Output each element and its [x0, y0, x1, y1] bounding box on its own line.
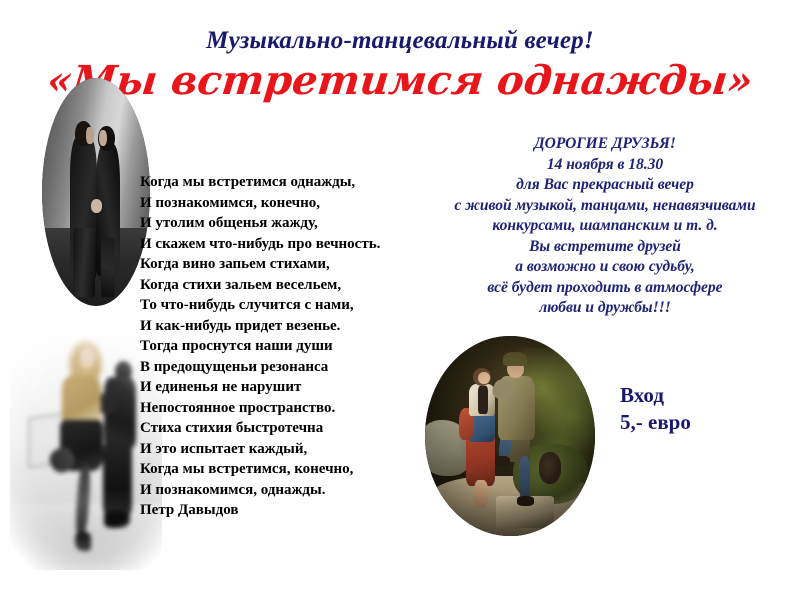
- poem-line: И это испытает каждый,: [140, 439, 450, 460]
- poem-line: В предощущеньи резонанса: [140, 357, 450, 378]
- poem-line: Когда вино запьем стихами,: [140, 254, 450, 275]
- poem-line: Когда мы встретимся однажды,: [140, 172, 450, 193]
- dancer-woman-shoe: [75, 532, 90, 551]
- poem-line: И познакомимся, конечно,: [140, 193, 450, 214]
- poem-line: И как-нибудь придет везенье.: [140, 316, 450, 337]
- poem-line: И скажем что-нибудь про вечность.: [140, 234, 450, 255]
- dancer-woman-face: [80, 347, 95, 368]
- couple-photo: [42, 78, 150, 306]
- entry-label: Вход: [620, 382, 691, 409]
- event-poster: Музыкально-танцевальный вечер! «Мы встре…: [0, 0, 800, 600]
- poem-line: И утолим общенья жажду,: [140, 213, 450, 234]
- poem-block: Когда мы встретимся однажды, И познакоми…: [140, 172, 450, 521]
- poem-author: Петр Давыдов: [140, 500, 450, 521]
- poem-line: И единенья не нарушит: [140, 377, 450, 398]
- poster-title-primary: Музыкально-танцевальный вечер!: [0, 27, 800, 55]
- poem-line: И познакомимся, однажды.: [140, 480, 450, 501]
- poem-line: Стиха стихия быстротечна: [140, 418, 450, 439]
- poem-line: То что-нибудь случится с нами,: [140, 295, 450, 316]
- announcement-line: Вы встретите друзей: [410, 237, 800, 258]
- announcement-line: любви и дружбы!!!: [410, 298, 800, 319]
- poem-line: Когда стихи зальем весельем,: [140, 275, 450, 296]
- dancer-man-legs: [103, 441, 132, 519]
- announcement-line: всё будет проходить в атмосфере: [410, 278, 800, 299]
- poem-line: Тогда проснутся наши души: [140, 336, 450, 357]
- woman-legs: [101, 238, 115, 297]
- dancer-man-shoe: [104, 511, 130, 527]
- announcement-line: конкурсами, шампанским и т. д.: [410, 216, 800, 237]
- meeting-painting: [425, 336, 595, 536]
- announcement-line: 14 ноября в 18.30: [410, 155, 800, 176]
- announcement-block: ДОРОГИЕ ДРУЗЬЯ! 14 ноября в 18.30 для Ва…: [410, 134, 800, 319]
- dancer-woman-top: [62, 375, 102, 427]
- woman-face: [99, 130, 107, 146]
- painting-vignette: [425, 336, 595, 536]
- announcement-line: для Вас прекрасный вечер: [410, 175, 800, 196]
- joined-hands: [91, 199, 103, 213]
- entry-price: 5,- евро: [620, 409, 691, 436]
- announcement-line: ДОРОГИЕ ДРУЗЬЯ!: [410, 134, 800, 155]
- man-face: [86, 127, 94, 144]
- announcement-line: с живой музыкой, танцами, ненавязчивами: [410, 196, 800, 217]
- man-legs: [73, 228, 95, 296]
- poem-line: Непостоянное пространство.: [140, 398, 450, 419]
- announcement-line: а возможно и свою судьбу,: [410, 257, 800, 278]
- poem-line: Когда мы встретимся, конечно,: [140, 459, 450, 480]
- entry-price-block: Вход 5,- евро: [620, 382, 691, 436]
